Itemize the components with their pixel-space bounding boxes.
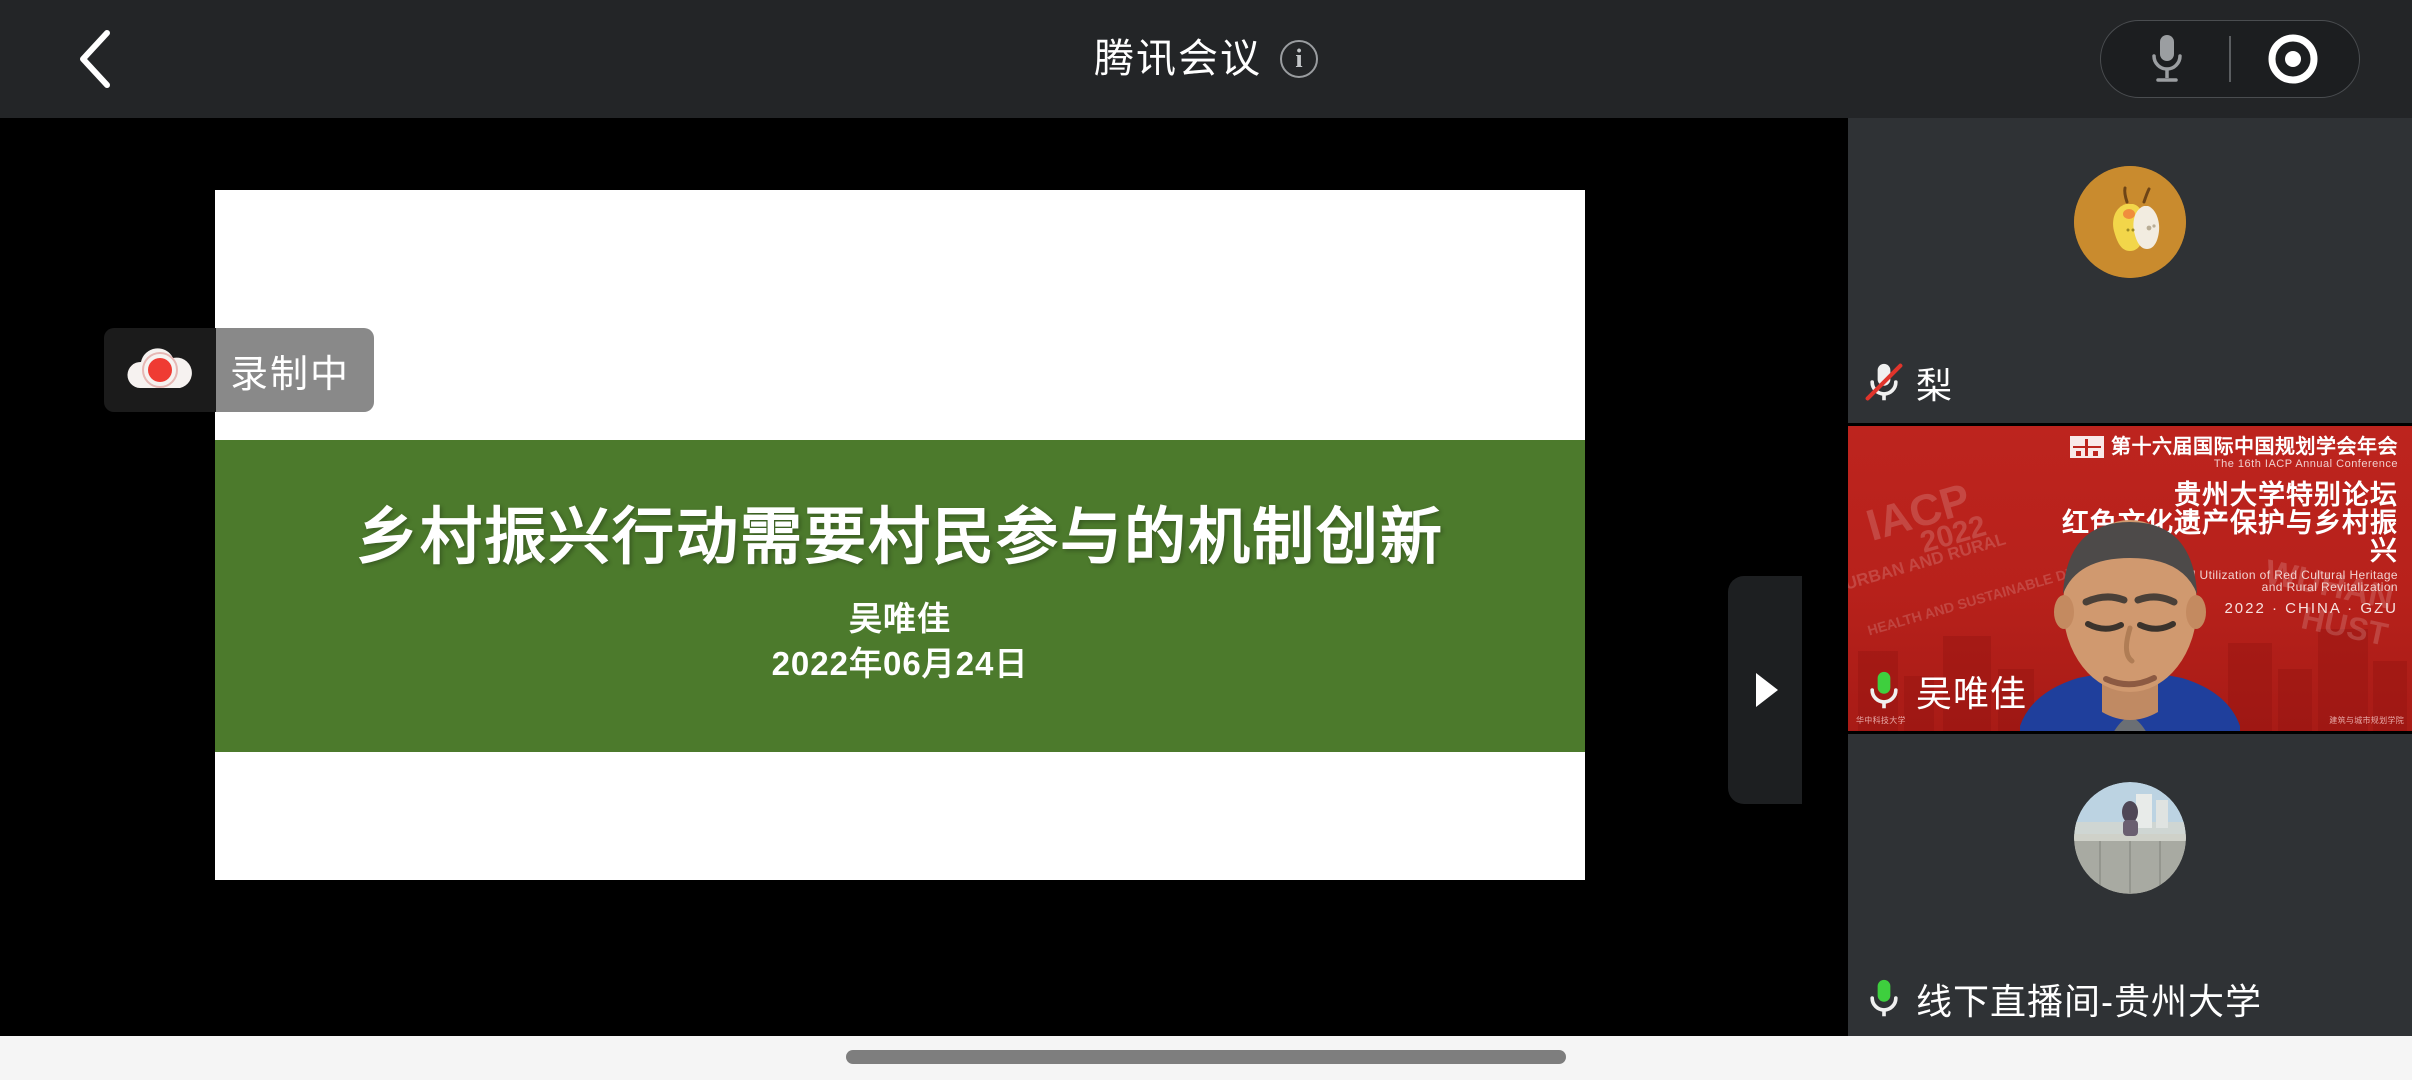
recording-label: 录制中 <box>230 343 350 398</box>
conference-title-cn: 第十六届国际中国规划学会年会 <box>2111 437 2398 458</box>
microphone-icon <box>2147 31 2187 87</box>
recording-icon-box <box>104 328 216 412</box>
home-indicator-bar[interactable] <box>846 1050 1566 1064</box>
slide-date: 2022年06月24日 <box>215 637 1585 685</box>
mic-status-slot <box>2111 31 2223 87</box>
participant-tile[interactable]: 梨 <box>1848 118 2412 423</box>
shared-slide: 乡村振兴行动需要村民参与的机制创新 吴唯佳 2022年06月24日 <box>215 190 1585 880</box>
slide-author: 吴唯佳 <box>215 592 1585 640</box>
screen-share-stage: 乡村振兴行动需要村民参与的机制创新 吴唯佳 2022年06月24日 录制中 <box>0 118 1848 968</box>
avatar <box>2074 782 2186 894</box>
recording-badge: 录制中 <box>104 328 374 412</box>
participant-name: 线下直播间-贵州大学 <box>1916 973 2262 1025</box>
vb-footer-right: 建筑与城市规划学院 <box>2329 715 2404 726</box>
chevron-left-icon <box>75 27 119 91</box>
info-circle-icon[interactable]: i <box>1280 40 1318 78</box>
pill-divider <box>2229 36 2231 82</box>
title-group: 腾讯会议 i <box>0 0 2412 118</box>
microphone-on-icon <box>1864 978 1904 1020</box>
tile-footer: 梨 <box>1864 357 1953 409</box>
slide-green-band: 乡村振兴行动需要村民参与的机制创新 吴唯佳 2022年06月24日 <box>215 440 1585 752</box>
recording-label-box: 录制中 <box>216 328 374 412</box>
tile-footer: 吴唯佳 <box>1864 665 2027 717</box>
tile-footer: 线下直播间-贵州大学 <box>1864 973 2262 1025</box>
participant-tile[interactable]: IACP 2022 URBAN AND RURAL HEALTH AND SUS… <box>1848 426 2412 731</box>
participant-tile[interactable]: 线下直播间-贵州大学 <box>1848 734 2412 1039</box>
pear-avatar-icon <box>2074 166 2186 278</box>
conference-title-en: The 16th IACP Annual Conference <box>2058 459 2398 471</box>
back-button[interactable] <box>62 24 132 94</box>
avatar <box>2074 166 2186 278</box>
photo-avatar-icon <box>2074 782 2186 894</box>
panel-expand-button[interactable] <box>1728 576 1802 804</box>
camera-status-slot <box>2237 33 2349 85</box>
top-bar: 腾讯会议 i <box>0 0 2412 118</box>
camera-record-icon <box>2267 33 2319 85</box>
microphone-on-icon <box>1864 670 1904 712</box>
play-triangle-icon <box>1748 669 1782 711</box>
system-status-pill <box>2100 20 2360 98</box>
participant-sidebar[interactable]: 梨 IACP 2022 <box>1848 118 2412 968</box>
iacp-logo-icon <box>2070 436 2104 458</box>
cloud-record-icon <box>120 342 200 398</box>
participant-name: 吴唯佳 <box>1916 665 2027 717</box>
system-home-bar-area <box>0 1036 2412 1080</box>
page-title: 腾讯会议 <box>1094 39 1262 79</box>
participant-name: 梨 <box>1916 357 1953 409</box>
microphone-muted-icon <box>1864 362 1904 404</box>
meeting-screen: 腾讯会议 i 乡村振 <box>0 0 2412 1080</box>
slide-title: 乡村振兴行动需要村民参与的机制创新 <box>215 486 1585 576</box>
